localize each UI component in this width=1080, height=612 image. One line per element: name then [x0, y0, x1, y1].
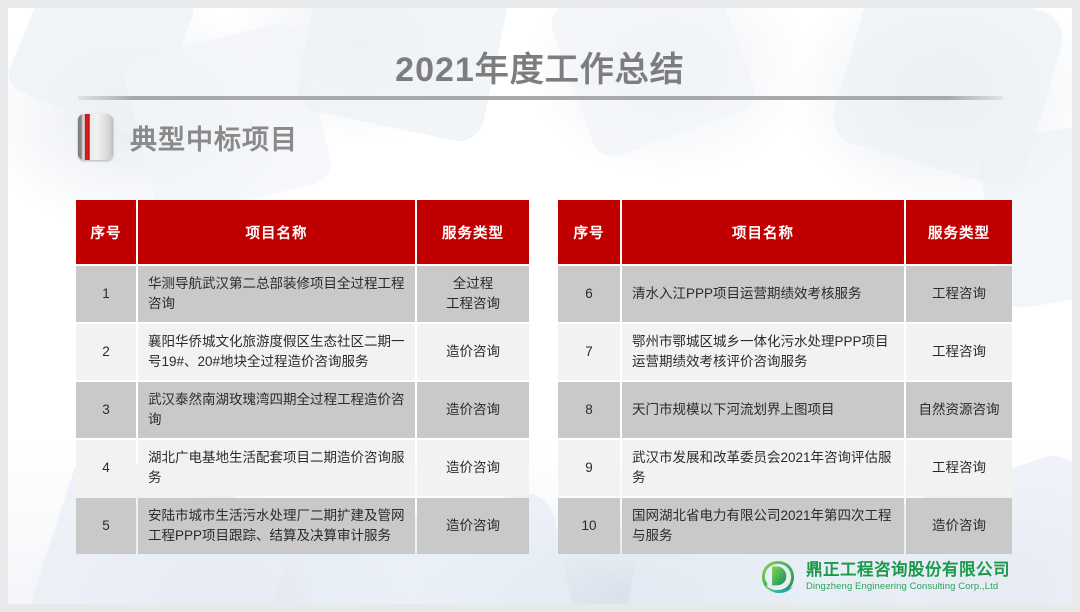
- table-header-row: 序号 项目名称 服务类型: [76, 200, 529, 264]
- cell-no: 7: [558, 324, 620, 380]
- projects-tables: 序号 项目名称 服务类型 1 华测导航武汉第二总部装修项目全过程工程咨询 全过程…: [74, 198, 1006, 556]
- cell-no: 10: [558, 498, 620, 554]
- column-header-type: 服务类型: [417, 200, 529, 264]
- cell-type: 工程咨询: [906, 324, 1012, 380]
- section-title: 典型中标项目: [130, 118, 298, 157]
- background-polygon: [827, 8, 1069, 192]
- cell-name: 安陆市城市生活污水处理厂二期扩建及管网工程PPP项目跟踪、结算及决算审计服务: [138, 498, 415, 554]
- cell-no: 9: [558, 440, 620, 496]
- table-row[interactable]: 9 武汉市发展和改革委员会2021年咨询评估服务 工程咨询: [558, 440, 1012, 496]
- column-header-name: 项目名称: [138, 200, 415, 264]
- table-row[interactable]: 10 国网湖北省电力有限公司2021年第四次工程与服务 造价咨询: [558, 498, 1012, 554]
- company-name-cn: 鼎正工程咨询股份有限公司: [806, 562, 1010, 579]
- cell-type: 造价咨询: [906, 498, 1012, 554]
- cell-no: 3: [76, 382, 136, 438]
- column-header-no: 序号: [558, 200, 620, 264]
- page-title: 2021年度工作总结: [8, 42, 1072, 91]
- column-header-name: 项目名称: [622, 200, 904, 264]
- cell-name: 襄阳华侨城文化旅游度假区生态社区二期一号19#、20#地块全过程造价咨询服务: [138, 324, 415, 380]
- table-row[interactable]: 6 清水入江PPP项目运营期绩效考核服务 工程咨询: [558, 266, 1012, 322]
- company-logo: 鼎正工程咨询股份有限公司 Dingzheng Engineering Consu…: [759, 558, 1010, 596]
- table-row[interactable]: 4 湖北广电基地生活配套项目二期造价咨询服务 造价咨询: [76, 440, 529, 496]
- table-row[interactable]: 2 襄阳华侨城文化旅游度假区生态社区二期一号19#、20#地块全过程造价咨询服务…: [76, 324, 529, 380]
- company-name-en: Dingzheng Engineering Consulting Corp.,L…: [806, 582, 1010, 592]
- cell-no: 1: [76, 266, 136, 322]
- cell-type: 造价咨询: [417, 324, 529, 380]
- slide-canvas: 2021年度工作总结 典型中标项目 序号 项目名称 服务类型 1 华测导航武汉第…: [8, 8, 1072, 604]
- table-body-right: 6 清水入江PPP项目运营期绩效考核服务 工程咨询 7 鄂州市鄂城区城乡一体化污…: [558, 266, 1012, 554]
- cell-type: 造价咨询: [417, 440, 529, 496]
- cell-no: 5: [76, 498, 136, 554]
- cell-name: 清水入江PPP项目运营期绩效考核服务: [622, 266, 904, 322]
- cell-type: 造价咨询: [417, 382, 529, 438]
- table-row[interactable]: 1 华测导航武汉第二总部装修项目全过程工程咨询 全过程工程咨询: [76, 266, 529, 322]
- projects-table-left: 序号 项目名称 服务类型 1 华测导航武汉第二总部装修项目全过程工程咨询 全过程…: [74, 198, 531, 556]
- logo-text-block: 鼎正工程咨询股份有限公司 Dingzheng Engineering Consu…: [806, 562, 1010, 591]
- cell-no: 8: [558, 382, 620, 438]
- cell-no: 6: [558, 266, 620, 322]
- cell-type: 自然资源咨询: [906, 382, 1012, 438]
- cell-name: 华测导航武汉第二总部装修项目全过程工程咨询: [138, 266, 415, 322]
- cell-name: 国网湖北省电力有限公司2021年第四次工程与服务: [622, 498, 904, 554]
- table-row[interactable]: 8 天门市规模以下河流划界上图项目 自然资源咨询: [558, 382, 1012, 438]
- table-row[interactable]: 3 武汉泰然南湖玫瑰湾四期全过程工程造价咨询 造价咨询: [76, 382, 529, 438]
- cell-name: 湖北广电基地生活配套项目二期造价咨询服务: [138, 440, 415, 496]
- cell-type: 造价咨询: [417, 498, 529, 554]
- cell-no: 2: [76, 324, 136, 380]
- cell-type: 工程咨询: [906, 266, 1012, 322]
- cell-no: 4: [76, 440, 136, 496]
- cell-name: 天门市规模以下河流划界上图项目: [622, 382, 904, 438]
- table-row[interactable]: 5 安陆市城市生活污水处理厂二期扩建及管网工程PPP项目跟踪、结算及决算审计服务…: [76, 498, 529, 554]
- title-divider: [78, 96, 1003, 100]
- table-row[interactable]: 7 鄂州市鄂城区城乡一体化污水处理PPP项目运营期绩效考核评价咨询服务 工程咨询: [558, 324, 1012, 380]
- table-body-left: 1 华测导航武汉第二总部装修项目全过程工程咨询 全过程工程咨询 2 襄阳华侨城文…: [76, 266, 529, 554]
- striped-bookmark-icon: [78, 114, 113, 160]
- cell-name: 鄂州市鄂城区城乡一体化污水处理PPP项目运营期绩效考核评价咨询服务: [622, 324, 904, 380]
- cell-type: 工程咨询: [906, 440, 1012, 496]
- cell-type: 全过程工程咨询: [417, 266, 529, 322]
- projects-table-right: 序号 项目名称 服务类型 6 清水入江PPP项目运营期绩效考核服务 工程咨询 7…: [556, 198, 1014, 556]
- table-header-row: 序号 项目名称 服务类型: [558, 200, 1012, 264]
- cell-name: 武汉市发展和改革委员会2021年咨询评估服务: [622, 440, 904, 496]
- dingzheng-d-logo-icon: [759, 558, 797, 596]
- column-header-type: 服务类型: [906, 200, 1012, 264]
- cell-name: 武汉泰然南湖玫瑰湾四期全过程工程造价咨询: [138, 382, 415, 438]
- column-header-no: 序号: [76, 200, 136, 264]
- section-header: 典型中标项目: [78, 114, 298, 160]
